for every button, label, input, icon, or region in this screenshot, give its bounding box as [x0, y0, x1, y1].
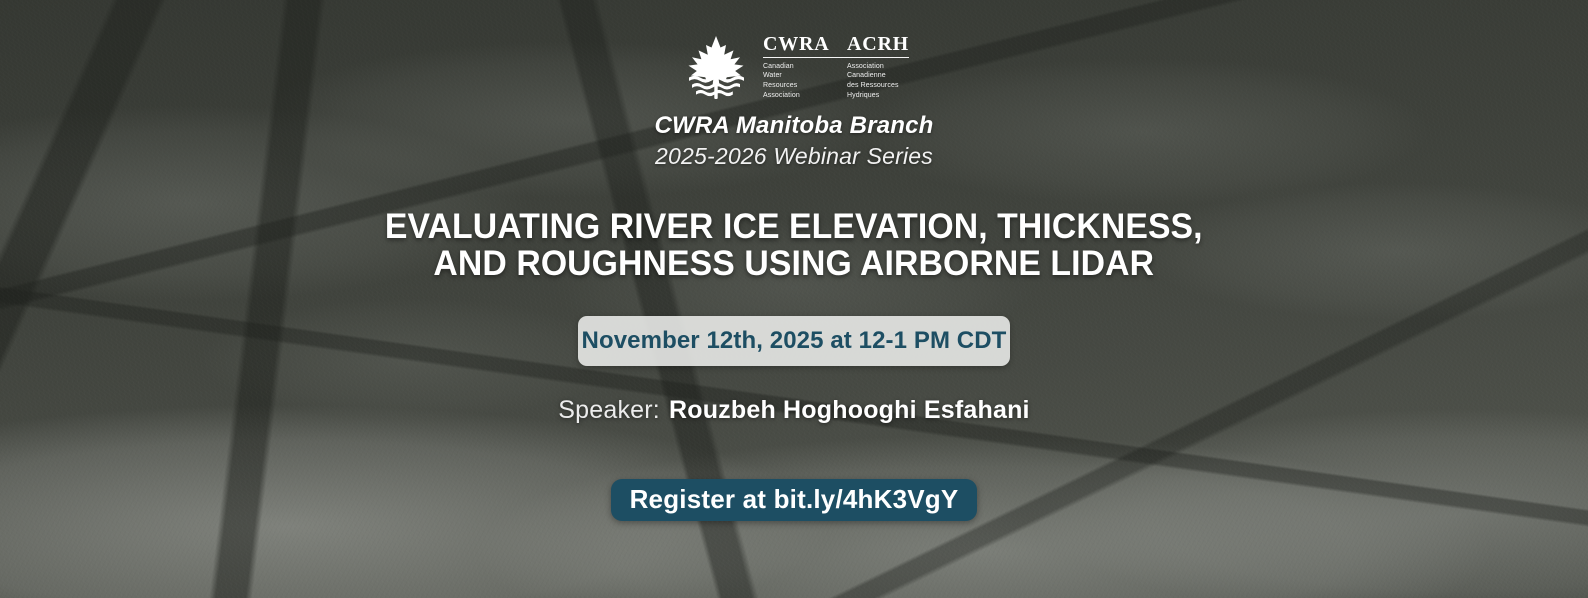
webinar-series-label: 2025-2026 Webinar Series [655, 143, 933, 170]
logo-en-line-4: Association [763, 91, 831, 101]
register-button[interactable]: Register at bit.ly/4hK3VgY [611, 479, 978, 521]
webinar-poster: CWRA ACRH Canadian Water Resources Assoc… [0, 0, 1588, 598]
logo-divider [763, 57, 909, 58]
logo-acronym-fr: ACRH [847, 34, 909, 54]
title-line-2: AND ROUGHNESS USING AIRBORNE LIDAR [385, 245, 1203, 282]
branch-name: CWRA Manitoba Branch [654, 112, 933, 140]
logo-acronyms: CWRA ACRH [763, 34, 909, 54]
logo-fr-line-2: Canadienne [847, 71, 899, 81]
date-time-text: November 12th, 2025 at 12-1 PM CDT [582, 327, 1007, 355]
logo-fr-line-4: Hydriques [847, 91, 899, 101]
speaker-label: Speaker: [558, 396, 660, 425]
poster-content: CWRA ACRH Canadian Water Resources Assoc… [0, 0, 1588, 598]
page-title: EVALUATING RIVER ICE ELEVATION, THICKNES… [385, 208, 1203, 283]
logo-en-line-3: Resources [763, 81, 831, 91]
logo-text-block: CWRA ACRH Canadian Water Resources Assoc… [763, 34, 909, 101]
title-line-1: EVALUATING RIVER ICE ELEVATION, THICKNES… [385, 208, 1203, 245]
logo-fr-line-1: Association [847, 62, 899, 72]
speaker-row: Speaker: Rouzbeh Hoghooghi Esfahani [558, 396, 1029, 425]
maple-leaf-water-logo-icon [679, 34, 753, 100]
logo-en-line-2: Water [763, 71, 831, 81]
logo-fullname-fr: Association Canadienne des Ressources Hy… [847, 62, 899, 101]
register-link-text[interactable]: Register at bit.ly/4hK3VgY [630, 484, 959, 515]
logo-acronym-en: CWRA [763, 34, 825, 54]
date-time-banner: November 12th, 2025 at 12-1 PM CDT [578, 316, 1010, 366]
logo-fullnames: Canadian Water Resources Association Ass… [763, 62, 909, 101]
logo-en-line-1: Canadian [763, 62, 831, 72]
logo-fullname-en: Canadian Water Resources Association [763, 62, 831, 101]
logo-fr-line-3: des Ressources [847, 81, 899, 91]
speaker-name: Rouzbeh Hoghooghi Esfahani [669, 396, 1030, 425]
cwra-logo: CWRA ACRH Canadian Water Resources Assoc… [679, 34, 909, 100]
